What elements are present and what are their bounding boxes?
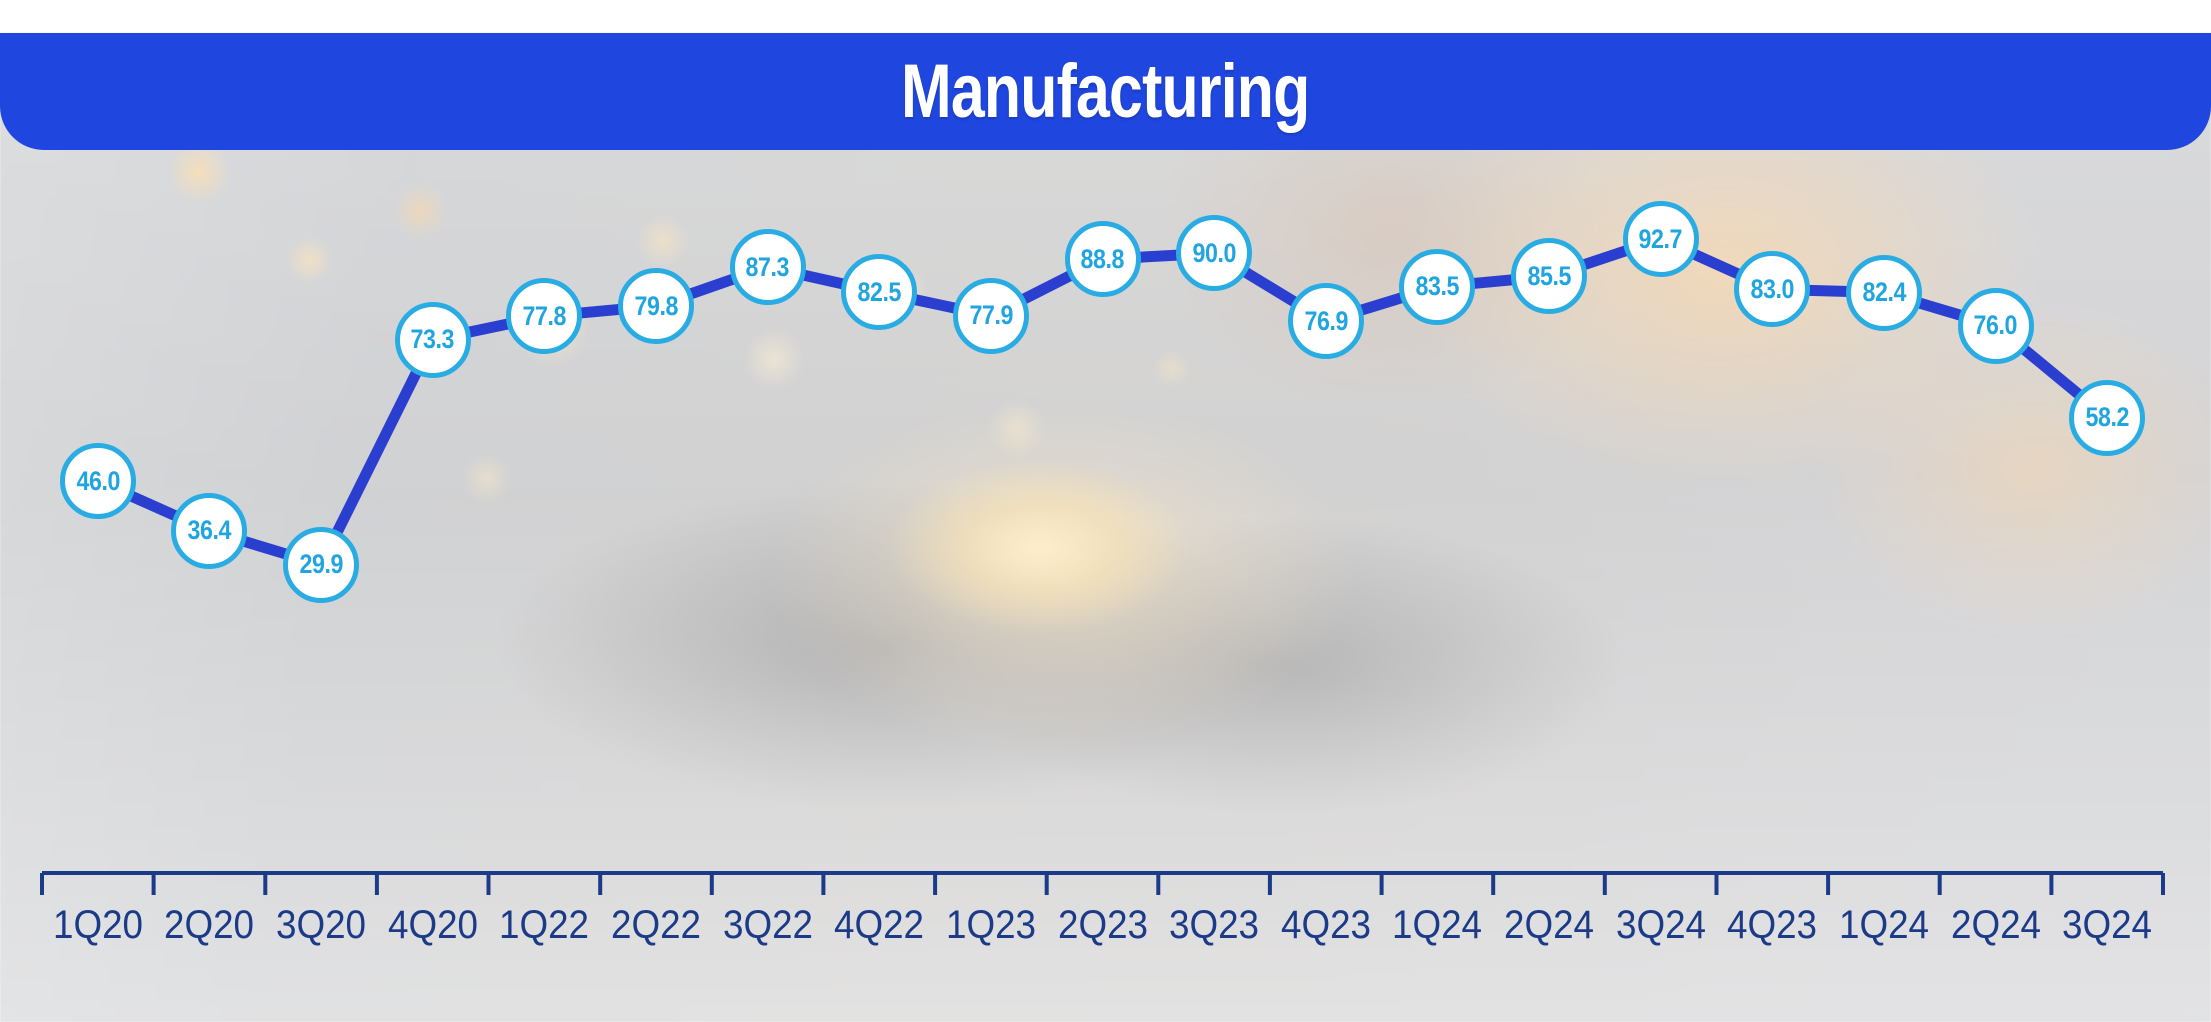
x-axis bbox=[0, 0, 2211, 1022]
x-axis-label: 4Q22 bbox=[834, 905, 924, 945]
data-point-value: 82.5 bbox=[857, 279, 900, 306]
data-point-value: 83.0 bbox=[1751, 276, 1794, 303]
data-point-value: 90.0 bbox=[1192, 240, 1235, 267]
data-point-marker[interactable]: 83.5 bbox=[1399, 249, 1475, 325]
data-point-value: 85.5 bbox=[1527, 263, 1570, 290]
data-point-value: 36.4 bbox=[188, 517, 231, 544]
data-point-marker[interactable]: 76.0 bbox=[1958, 288, 2034, 364]
data-point-value: 29.9 bbox=[299, 551, 342, 578]
data-point-marker[interactable]: 82.4 bbox=[1846, 255, 1922, 331]
x-axis-label: 3Q22 bbox=[723, 905, 813, 945]
data-point-value: 87.3 bbox=[746, 254, 789, 281]
line-chart: 46.036.429.973.377.879.887.382.577.988.8… bbox=[0, 0, 2211, 1022]
data-point-marker[interactable]: 79.8 bbox=[618, 268, 694, 344]
x-axis-label: 2Q24 bbox=[1951, 905, 2041, 945]
data-point-value: 79.8 bbox=[634, 293, 677, 320]
x-axis-label: 3Q24 bbox=[1616, 905, 1706, 945]
x-axis-label: 4Q23 bbox=[1281, 905, 1371, 945]
data-point-value: 76.0 bbox=[1974, 312, 2017, 339]
data-point-marker[interactable]: 36.4 bbox=[171, 493, 247, 569]
data-point-marker[interactable]: 76.9 bbox=[1288, 283, 1364, 359]
title-banner: Manufacturing bbox=[0, 33, 2211, 150]
x-axis-label: 1Q24 bbox=[1392, 905, 1482, 945]
page-title: Manufacturing bbox=[901, 54, 1309, 130]
data-point-marker[interactable]: 77.9 bbox=[953, 278, 1029, 354]
data-point-value: 77.9 bbox=[969, 302, 1012, 329]
x-axis-label: 4Q23 bbox=[1727, 905, 1817, 945]
data-point-value: 73.3 bbox=[411, 326, 454, 353]
x-axis-label: 3Q24 bbox=[2062, 905, 2152, 945]
data-point-marker[interactable]: 85.5 bbox=[1511, 238, 1587, 314]
x-axis-label: 2Q20 bbox=[164, 905, 254, 945]
data-point-value: 83.5 bbox=[1416, 273, 1459, 300]
x-axis-label: 2Q24 bbox=[1504, 905, 1594, 945]
x-axis-label: 1Q23 bbox=[946, 905, 1036, 945]
chart-page: Manufacturing 46.036.429.973.377.879.887… bbox=[0, 0, 2211, 1022]
x-axis-label: 1Q22 bbox=[499, 905, 589, 945]
data-point-marker[interactable]: 73.3 bbox=[395, 302, 471, 378]
data-point-value: 82.4 bbox=[1862, 279, 1905, 306]
data-point-marker[interactable]: 46.0 bbox=[60, 443, 136, 519]
x-axis-label: 3Q23 bbox=[1169, 905, 1259, 945]
x-axis-label: 3Q20 bbox=[276, 905, 366, 945]
data-point-marker[interactable]: 87.3 bbox=[730, 229, 806, 305]
data-point-value: 88.8 bbox=[1081, 246, 1124, 273]
data-point-value: 92.7 bbox=[1639, 226, 1682, 253]
data-point-marker[interactable]: 92.7 bbox=[1623, 201, 1699, 277]
data-point-marker[interactable]: 88.8 bbox=[1065, 221, 1141, 297]
data-point-marker[interactable]: 90.0 bbox=[1176, 215, 1252, 291]
x-axis-label: 2Q22 bbox=[611, 905, 701, 945]
data-point-marker[interactable]: 29.9 bbox=[283, 527, 359, 603]
data-point-value: 46.0 bbox=[76, 468, 119, 495]
data-point-value: 76.9 bbox=[1304, 308, 1347, 335]
data-point-value: 77.8 bbox=[523, 303, 566, 330]
x-axis-label: 1Q24 bbox=[1839, 905, 1929, 945]
data-point-marker[interactable]: 58.2 bbox=[2069, 380, 2145, 456]
x-axis-label: 4Q20 bbox=[388, 905, 478, 945]
data-point-marker[interactable]: 82.5 bbox=[841, 254, 917, 330]
data-point-value: 58.2 bbox=[2085, 404, 2128, 431]
x-axis-label: 1Q20 bbox=[53, 905, 143, 945]
x-axis-label: 2Q23 bbox=[1057, 905, 1147, 945]
